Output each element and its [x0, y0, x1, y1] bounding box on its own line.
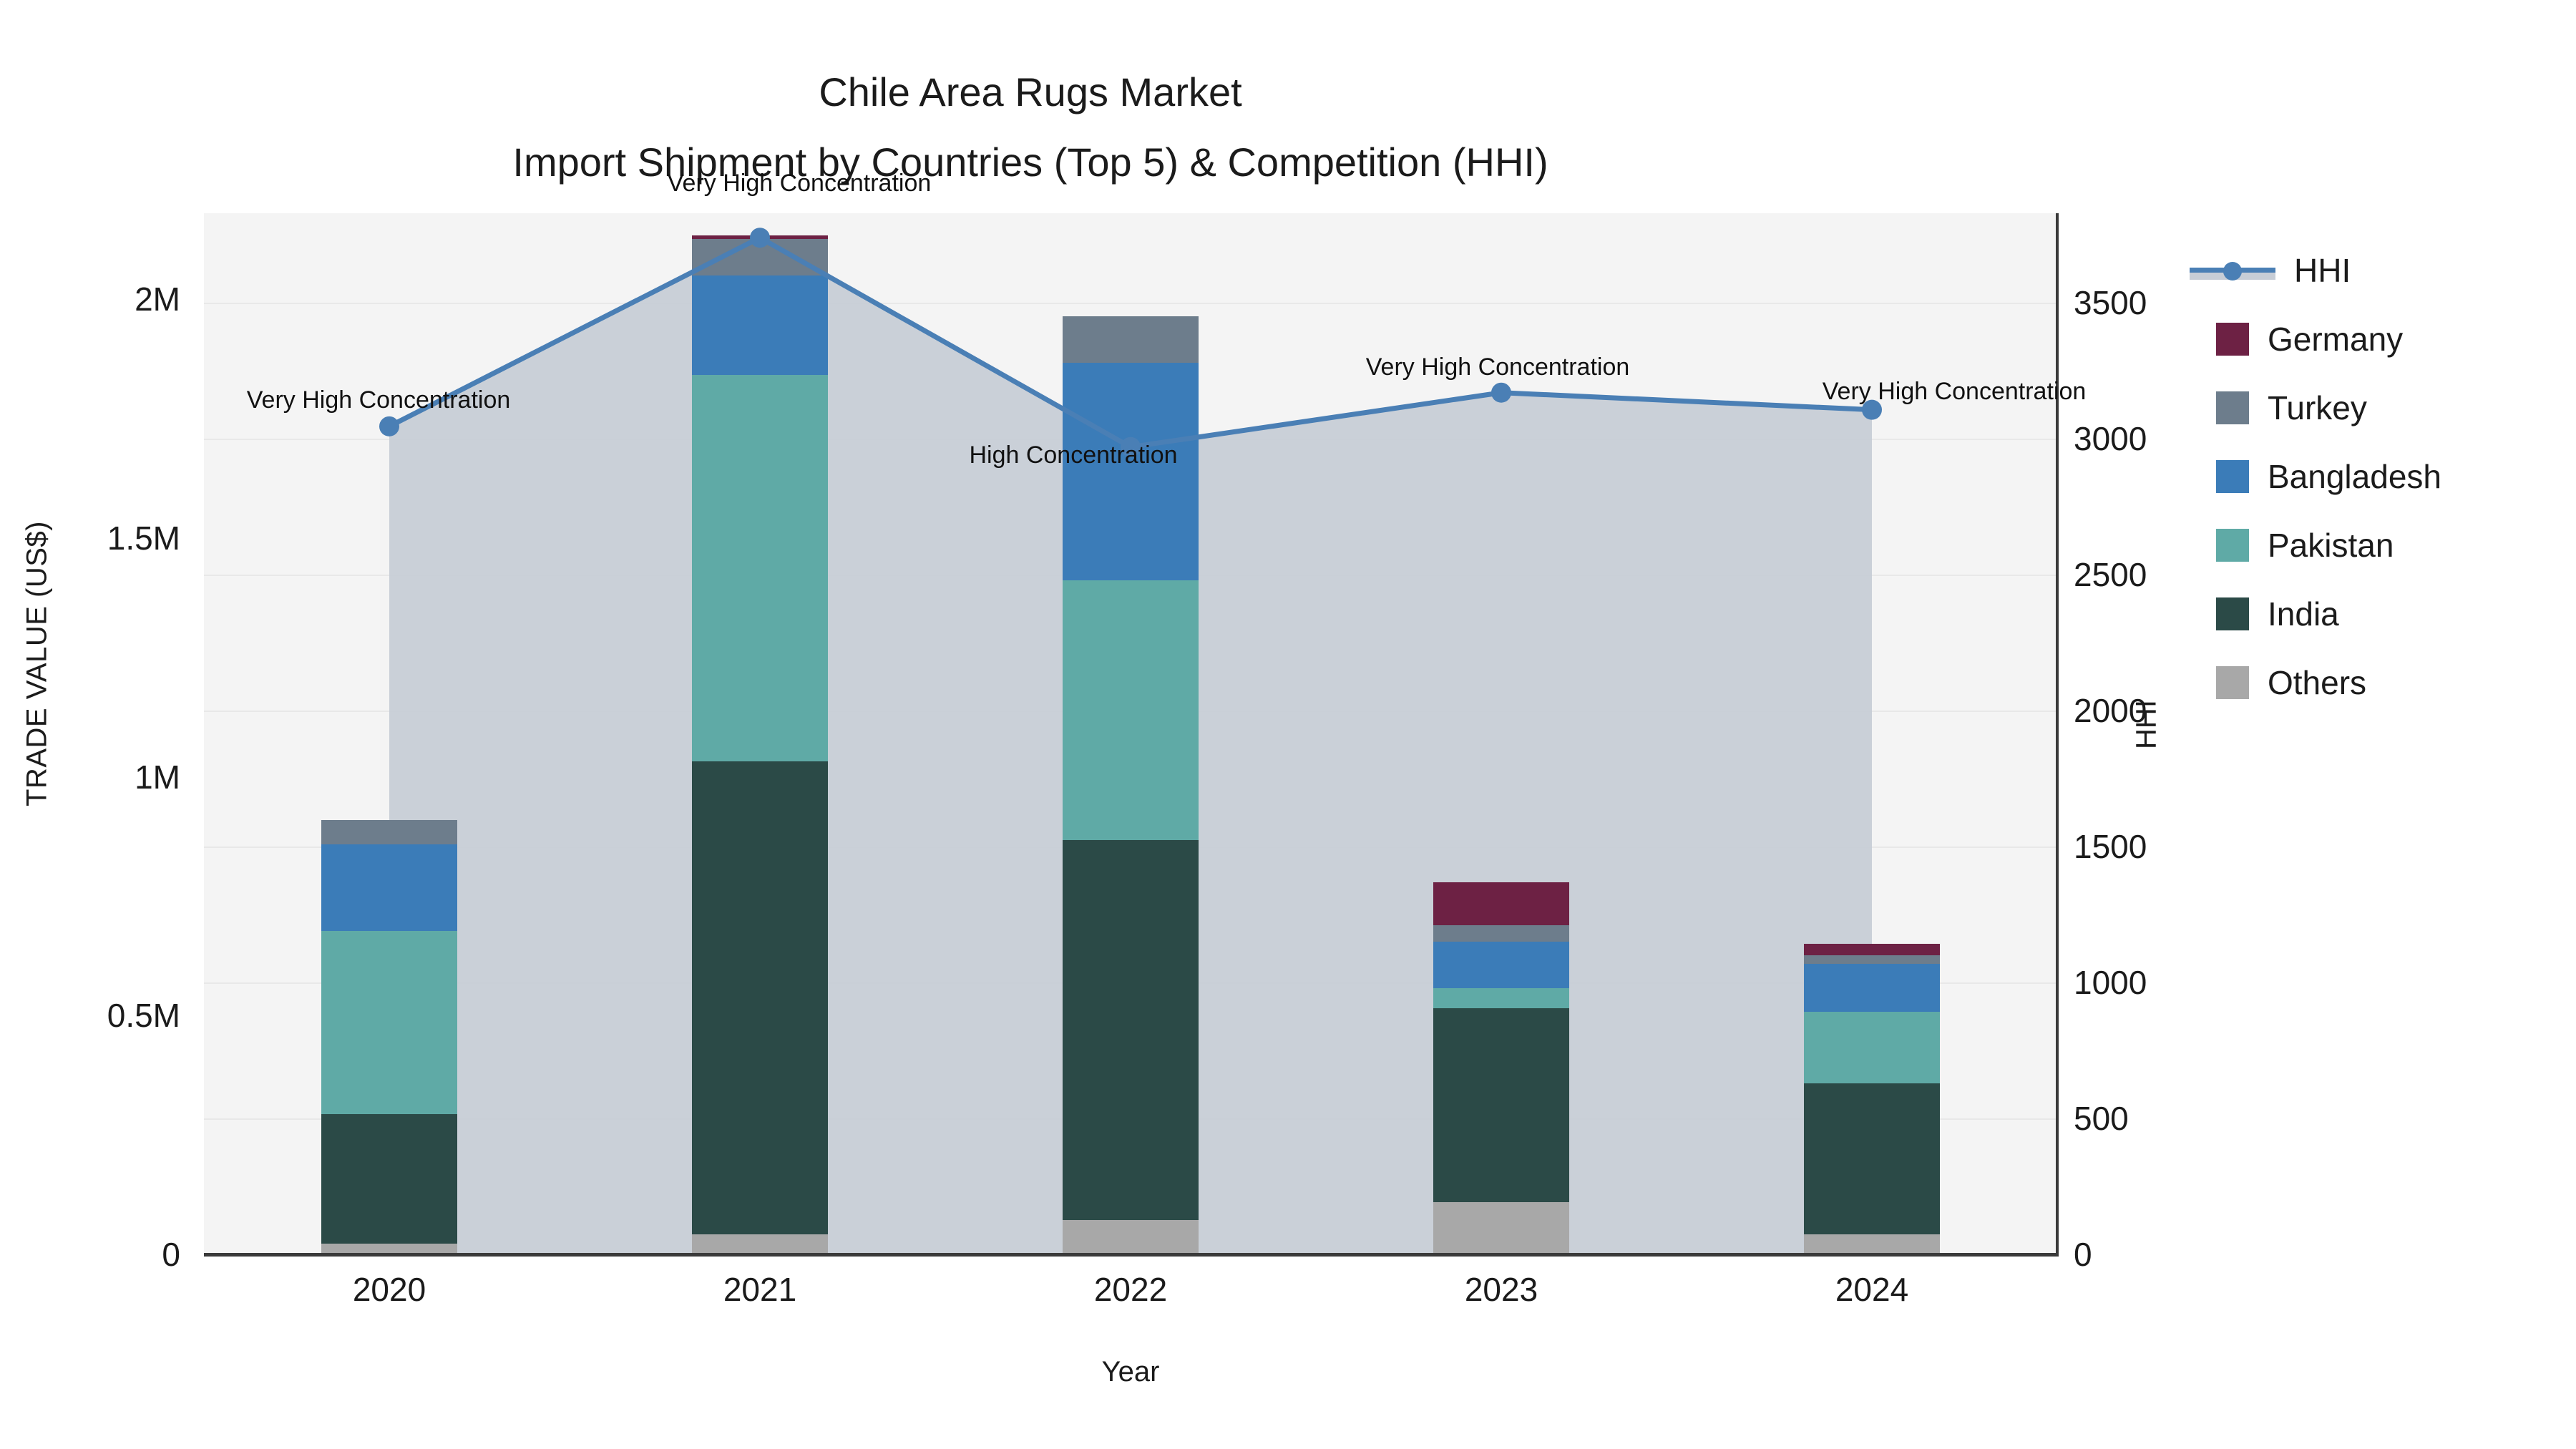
hhi-line	[389, 238, 1872, 447]
legend-item-turkey[interactable]: Turkey	[2190, 374, 2576, 442]
legend-swatch-icon	[2216, 529, 2249, 562]
legend-label: Germany	[2268, 323, 2403, 356]
x-tick-2020: 2020	[282, 1270, 497, 1309]
legend-item-india[interactable]: India	[2190, 580, 2576, 648]
y-tick-right: 0	[2074, 1235, 2288, 1274]
y-axis-right-label: HHI	[2131, 582, 2163, 868]
concentration-annotation: Very High Concentration	[1823, 378, 2087, 406]
y-tick-right: 1000	[2074, 963, 2288, 1002]
legend-swatch-icon	[2216, 391, 2249, 424]
y-tick-right: 500	[2074, 1099, 2288, 1138]
legend-label: India	[2268, 597, 2339, 630]
legend-item-germany[interactable]: Germany	[2190, 305, 2576, 374]
hhi-marker[interactable]	[379, 416, 399, 436]
y-axis-left-label: TRADE VALUE (US$)	[21, 464, 54, 864]
legend-label: Pakistan	[2268, 529, 2394, 562]
legend-swatch-icon	[2216, 323, 2249, 356]
x-tick-2024: 2024	[1765, 1270, 1979, 1309]
x-tick-2021: 2021	[653, 1270, 867, 1309]
legend-label: HHI	[2294, 254, 2351, 287]
legend-item-hhi[interactable]: HHI	[2190, 236, 2576, 305]
concentration-annotation: Very High Concentration	[1366, 353, 1630, 381]
hhi-marker[interactable]	[1491, 383, 1511, 403]
legend-label: Turkey	[2268, 391, 2367, 424]
legend: HHIGermanyTurkeyBangladeshPakistanIndiaO…	[2190, 236, 2576, 717]
x-tick-2022: 2022	[1023, 1270, 1238, 1309]
chart-title: Chile Area Rugs Market Import Shipment b…	[0, 57, 2061, 197]
concentration-annotation: High Concentration	[969, 441, 1177, 469]
title-line-1: Chile Area Rugs Market	[0, 57, 2061, 127]
legend-swatch-icon	[2216, 666, 2249, 699]
x-axis-spine	[204, 1253, 2057, 1257]
y-tick-left: 0.5M	[0, 996, 180, 1035]
legend-swatch-icon	[2216, 460, 2249, 493]
legend-label: Others	[2268, 666, 2366, 699]
hhi-marker[interactable]	[750, 228, 770, 248]
hhi-line-series	[204, 213, 2057, 1254]
legend-item-pakistan[interactable]: Pakistan	[2190, 511, 2576, 580]
y-tick-left: 2M	[0, 280, 180, 318]
concentration-annotation: Very High Concentration	[668, 170, 932, 197]
y-tick-left: 0	[0, 1235, 180, 1274]
title-line-2: Import Shipment by Countries (Top 5) & C…	[0, 127, 2061, 197]
x-tick-2023: 2023	[1394, 1270, 1609, 1309]
hhi-line-key-icon	[2190, 254, 2275, 287]
legend-item-bangladesh[interactable]: Bangladesh	[2190, 442, 2576, 511]
x-axis-label: Year	[204, 1356, 2057, 1388]
y-tick-right: 1500	[2074, 827, 2288, 866]
concentration-annotation: Very High Concentration	[247, 386, 511, 414]
legend-item-others[interactable]: Others	[2190, 648, 2576, 717]
legend-label: Bangladesh	[2268, 460, 2441, 493]
y-axis-right-spine	[2056, 213, 2059, 1257]
legend-swatch-icon	[2216, 597, 2249, 630]
